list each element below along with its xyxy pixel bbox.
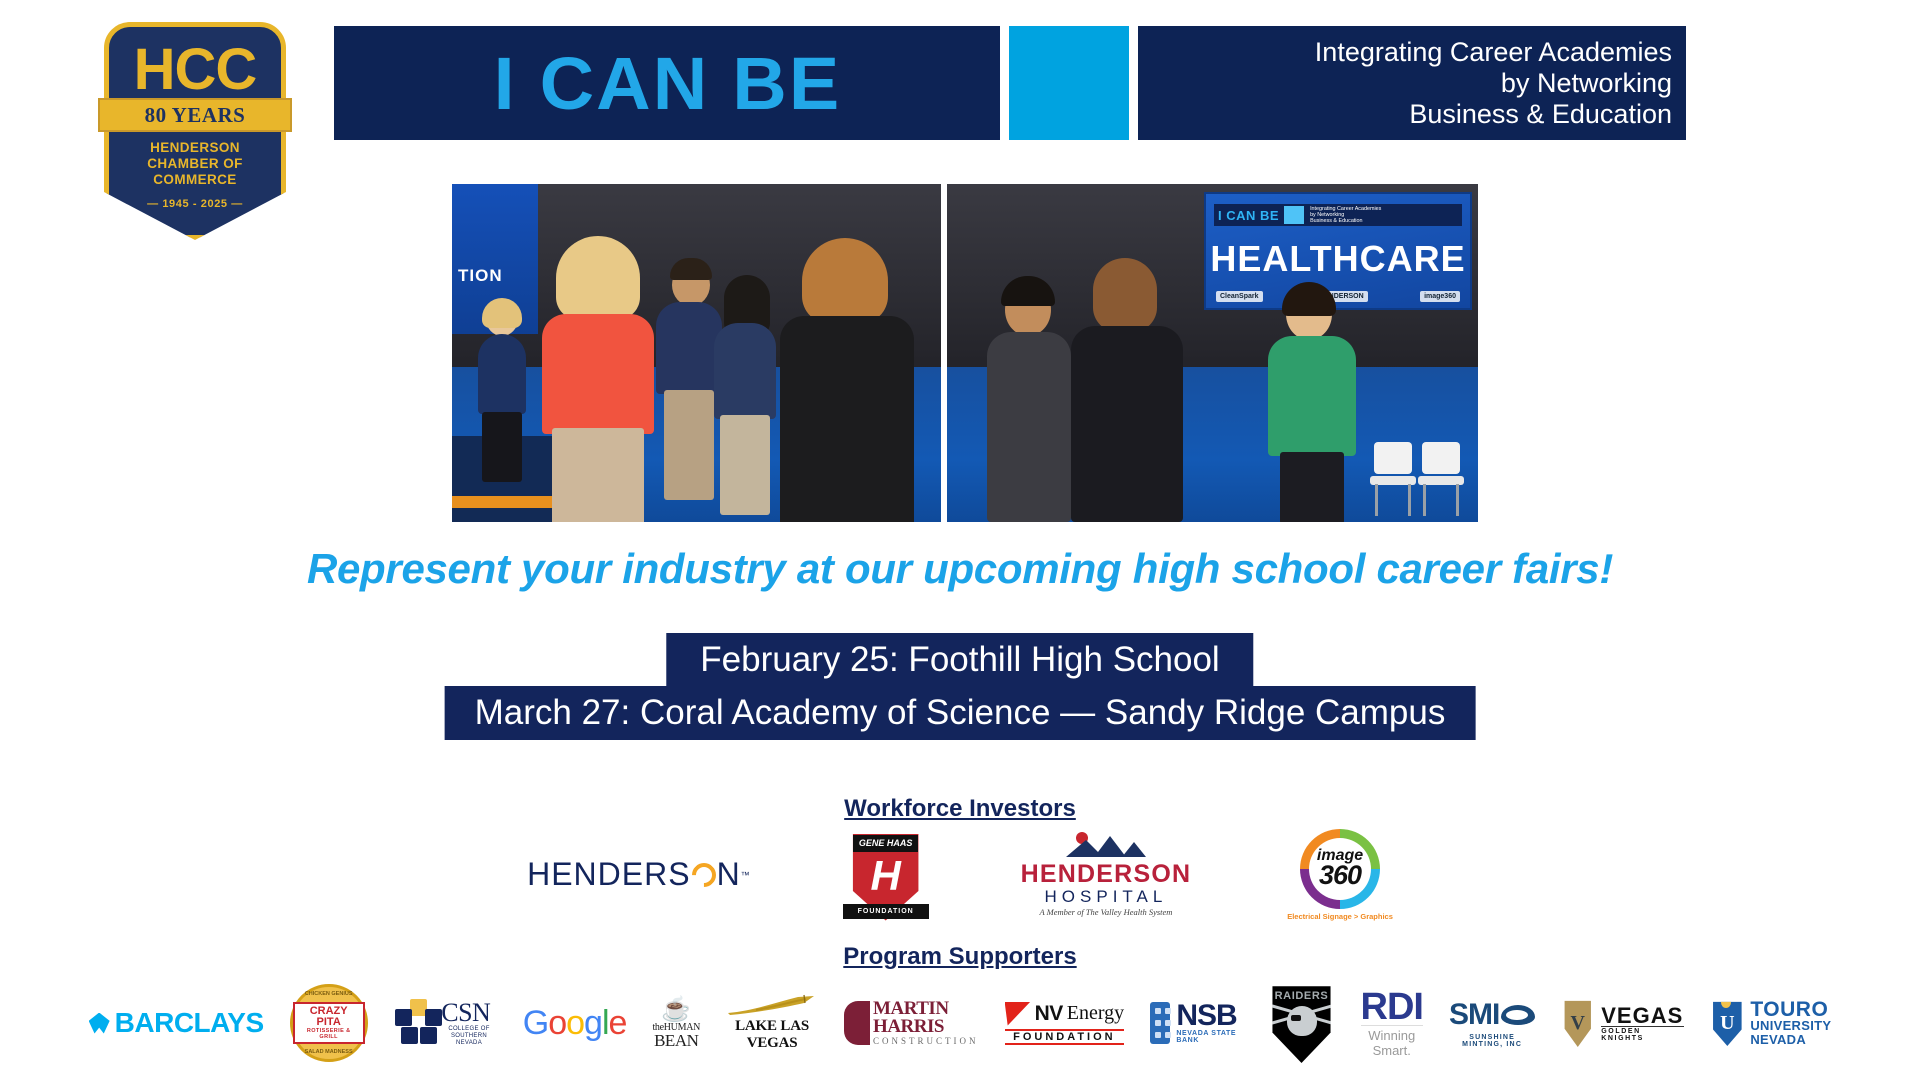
person-student-foreground — [770, 232, 920, 522]
hospital-type: HOSPITAL — [1021, 887, 1192, 907]
barclays-eagle-icon — [89, 1013, 110, 1034]
workforce-investors-row: HENDERSN™ GENE HAAS H FOUNDATION — [0, 822, 1920, 927]
nv-energy-word-1: NV — [1035, 1002, 1063, 1026]
chair-leg — [1375, 484, 1378, 516]
haas-top-bar: GENE HAAS — [853, 835, 919, 852]
chair-leg — [1423, 484, 1426, 516]
golden-knights-text: VEGAS GOLDEN KNIGHTS — [1601, 1005, 1684, 1042]
raiders-wordmark: RAIDERS — [1275, 990, 1329, 1002]
lake-las-vegas-wordmark: LAKE LAS VEGAS — [726, 1018, 818, 1052]
haas-foot-bar: FOUNDATION — [843, 904, 929, 919]
mountain-icon — [1064, 832, 1148, 858]
touro-shield-icon: U — [1710, 1000, 1744, 1046]
booth-banner-text: TION — [458, 266, 503, 286]
google-letter-e: e — [609, 1004, 627, 1042]
touro-lockup: U TOURO UNIVERSITY NEVADA — [1710, 1000, 1831, 1047]
sponsor-logo-raiders[interactable]: RAIDERS — [1269, 978, 1335, 1068]
healthcare-banner-sub-3: Business & Education — [1310, 218, 1362, 224]
touro-text: TOURO UNIVERSITY NEVADA — [1750, 1000, 1831, 1047]
header-title-block: I CAN BE — [334, 26, 1000, 140]
person-hair — [670, 258, 712, 280]
golden-knights-shield-icon: V — [1561, 999, 1594, 1047]
golden-knights-lockup: V VEGAS GOLDEN KNIGHTS — [1561, 999, 1684, 1047]
raiders-eye-patch-icon — [1291, 1015, 1301, 1021]
person-torso — [478, 334, 526, 414]
header-accent-square — [1009, 26, 1129, 140]
sponsor-logo-henderson-hospital[interactable]: HENDERSON HOSPITAL A Member of The Valle… — [1021, 832, 1192, 917]
header-subtitle-line-2: by Networking — [1501, 68, 1672, 99]
henderson-wordmark: HENDERSN™ — [527, 856, 751, 893]
nsb-door-icon — [1150, 1002, 1170, 1044]
person-hair — [1001, 276, 1055, 306]
csn-lockup: CSN COLLEGE OF SOUTHERN NEVADA — [394, 999, 497, 1047]
person-torso — [780, 316, 914, 522]
google-letter-g1: G — [523, 1004, 548, 1042]
sponsor-logo-martin-harris[interactable]: MARTIN HARRIS CONSTRUCTION — [844, 978, 979, 1068]
tagline: Represent your industry at our upcoming … — [0, 545, 1920, 593]
sponsor-logo-image360[interactable]: image 360 Electrical Signage > Graphics — [1287, 829, 1393, 921]
image360-ring-icon: image 360 — [1300, 829, 1380, 909]
person-torso — [1268, 336, 1356, 456]
sponsor-logo-rdi[interactable]: RDI Winning Smart. — [1361, 978, 1423, 1068]
logo-org-name: HENDERSON CHAMBER OF COMMERCE — [104, 140, 286, 188]
haas-shield-icon: GENE HAAS H FOUNDATION — [847, 829, 925, 921]
person-legs — [1280, 452, 1344, 522]
henderson-text-part-1: HENDERS — [527, 856, 690, 893]
event-date-banner-1: February 25: Foothill High School — [666, 633, 1253, 687]
event-date-banner-2: March 27: Coral Academy of Science — San… — [445, 686, 1476, 740]
hospital-name: HENDERSON — [1021, 862, 1192, 887]
golden-knights-line-2: GOLDEN KNIGHTS — [1601, 1026, 1684, 1042]
csn-sub-2: SOUTHERN NEVADA — [441, 1033, 497, 1047]
page-title: I CAN BE — [493, 41, 841, 126]
logo-org-line-3: COMMERCE — [104, 172, 286, 188]
flyer-page: HCC 80 YEARS HENDERSON CHAMBER OF COMMER… — [0, 0, 1920, 1080]
logo-ribbon: 80 YEARS — [98, 98, 292, 132]
photo-strip: TION — [452, 184, 1478, 522]
csn-petal — [420, 1027, 437, 1044]
crazy-pita-center: CRAZY PITA ROTISSERIE & GRILL — [293, 1002, 365, 1044]
sponsor-logo-henderson[interactable]: HENDERSN™ — [527, 856, 751, 893]
healthcare-banner-subtitle: Integrating Career Academies by Networki… — [1310, 206, 1381, 224]
nv-energy-foundation-label: FOUNDATION — [1005, 1029, 1125, 1045]
nv-energy-triangle-icon — [1005, 1002, 1031, 1026]
raiders-shield-icon: RAIDERS — [1269, 983, 1335, 1063]
smi-lockup: SMI SUNSHINE MINTING, INC — [1449, 998, 1535, 1048]
google-wordmark: Google — [523, 1004, 627, 1043]
csn-text: CSN COLLEGE OF SOUTHERN NEVADA — [441, 1000, 497, 1047]
sponsor-logo-google[interactable]: Google — [523, 978, 627, 1068]
healthcare-banner-brand: I CAN BE Integrating Career Academies by… — [1214, 204, 1462, 226]
golden-knights-line-1: VEGAS — [1601, 1005, 1684, 1026]
raiders-pirate-face-icon — [1287, 1006, 1317, 1036]
sponsor-logo-nv-energy-foundation[interactable]: NV Energy FOUNDATION — [1005, 978, 1125, 1068]
image360-word-2: 360 — [1317, 863, 1363, 888]
logo-ribbon-label: 80 YEARS — [145, 103, 246, 128]
header-subtitle-block: Integrating Career Academies by Networki… — [1138, 26, 1686, 140]
haas-name: GENE HAAS — [859, 838, 913, 848]
chair-icon — [1418, 442, 1464, 516]
csn-pinwheel-icon — [394, 999, 436, 1047]
healthcare-banner-accent-square — [1284, 206, 1304, 224]
person-torso — [1071, 326, 1183, 522]
person-legs — [552, 428, 644, 522]
nv-energy-word-2: Energy — [1067, 1002, 1124, 1025]
sponsor-logo-sunshine-minting[interactable]: SMI SUNSHINE MINTING, INC — [1449, 978, 1535, 1068]
header-subtitle-line-1: Integrating Career Academies — [1315, 37, 1672, 68]
human-bean-lockup: ☕ theHUMAN BEAN — [652, 998, 700, 1049]
martin-harris-line-3: CONSTRUCTION — [873, 1036, 979, 1046]
csn-sub-1: COLLEGE OF — [441, 1026, 497, 1033]
smi-sun-icon — [1501, 1005, 1535, 1025]
google-letter-g2: g — [584, 1004, 602, 1042]
person-legs — [720, 415, 770, 515]
sponsor-logo-human-bean[interactable]: ☕ theHUMAN BEAN — [652, 978, 700, 1068]
crazy-pita-badge-icon: CHICKEN GENIUS CRAZY PITA ROTISSERIE & G… — [290, 984, 368, 1062]
image360-lockup: image 360 Electrical Signage > Graphics — [1287, 829, 1393, 921]
chair-back — [1422, 442, 1460, 474]
banner-sponsor-3: image360 — [1420, 291, 1460, 302]
sponsor-logo-barclays[interactable]: BARCLAYS — [89, 978, 264, 1068]
person-hair — [1282, 282, 1336, 316]
google-letter-o1: o — [548, 1004, 566, 1042]
lake-swoosh-icon — [726, 994, 818, 1016]
nv-energy-top-row: NV Energy — [1005, 1002, 1125, 1026]
barclays-wordmark: BARCLAYS — [115, 1007, 264, 1039]
nsb-wordmark: NSB — [1176, 1002, 1242, 1030]
hcc-logo: HCC 80 YEARS HENDERSON CHAMBER OF COMMER… — [104, 22, 286, 240]
header-banner: I CAN BE Integrating Career Academies by… — [334, 26, 1686, 140]
smi-top-row: SMI — [1449, 998, 1535, 1032]
coffee-cup-icon: ☕ — [652, 998, 700, 1022]
lake-las-vegas-lockup: LAKE LAS VEGAS — [726, 994, 818, 1052]
person-presenter — [532, 222, 662, 522]
haas-foundation-label: FOUNDATION — [858, 908, 914, 915]
program-supporters-row: BARCLAYS CHICKEN GENIUS CRAZY PITA ROTIS… — [0, 975, 1920, 1071]
golden-knights-monogram: V — [1571, 1012, 1585, 1035]
crazy-pita-name: CRAZY PITA — [299, 1006, 359, 1028]
person-torso — [714, 323, 776, 419]
sponsor-logo-golden-knights[interactable]: V VEGAS GOLDEN KNIGHTS — [1561, 978, 1684, 1068]
person-torso — [542, 314, 654, 434]
barclays-lockup: BARCLAYS — [89, 1007, 264, 1039]
chair-back — [1374, 442, 1412, 474]
henderson-circle-icon — [687, 858, 721, 892]
csn-petal — [395, 1009, 412, 1026]
person-legs — [664, 390, 714, 500]
section-heading-workforce-investors: Workforce Investors — [0, 795, 1920, 823]
person-exhibitor — [1254, 282, 1374, 522]
person-hair — [802, 238, 888, 324]
healthcare-banner-brand-text: I CAN BE — [1214, 208, 1279, 223]
touro-line-2: UNIVERSITY — [1750, 1019, 1831, 1033]
martin-harris-text: MARTIN HARRIS CONSTRUCTION — [873, 1000, 979, 1046]
sponsor-logo-lake-las-vegas[interactable]: LAKE LAS VEGAS — [726, 978, 818, 1068]
martin-harris-lockup: MARTIN HARRIS CONSTRUCTION — [844, 1000, 979, 1046]
person-student — [1063, 242, 1191, 522]
person-torso — [987, 332, 1071, 522]
photo-career-fair-right: I CAN BE Integrating Career Academies by… — [947, 184, 1478, 522]
nsb-subtitle: NEVADA STATE BANK — [1176, 1030, 1242, 1044]
logo-years: — 1945 - 2025 — — [104, 198, 286, 210]
csn-petal — [425, 1009, 442, 1026]
human-bean-line-2: BEAN — [652, 1033, 700, 1049]
crazy-pita-bottom-text: SALAD MADNESS — [305, 1049, 353, 1055]
person-hair — [482, 298, 522, 328]
hospital-affiliation: A Member of The Valley Health System — [1021, 907, 1192, 917]
csn-wordmark: CSN — [441, 1000, 497, 1026]
logo-acronym: HCC — [104, 36, 286, 103]
logo-org-line-2: CHAMBER OF — [104, 156, 286, 172]
nsb-text: NSB NEVADA STATE BANK — [1176, 1002, 1242, 1044]
martin-harris-mark-icon — [844, 1001, 870, 1045]
csn-petal — [401, 1027, 418, 1044]
sponsor-logo-gene-haas-foundation[interactable]: GENE HAAS H FOUNDATION — [847, 829, 925, 921]
person-legs — [482, 412, 522, 482]
sponsor-logo-crazy-pita[interactable]: CHICKEN GENIUS CRAZY PITA ROTISSERIE & G… — [290, 978, 368, 1068]
healthcare-banner-word: HEALTHCARE — [1206, 238, 1470, 280]
chair-leg — [1456, 484, 1459, 516]
henderson-trademark: ™ — [741, 870, 751, 880]
chair-leg — [1408, 484, 1411, 516]
henderson-hospital-lockup: HENDERSON HOSPITAL A Member of The Valle… — [1021, 832, 1192, 917]
rdi-wordmark: RDI — [1361, 989, 1423, 1025]
section-heading-program-supporters: Program Supporters — [0, 943, 1920, 971]
logo-org-line-1: HENDERSON — [104, 140, 286, 156]
person-hair — [556, 236, 640, 320]
martin-harris-line-2: HARRIS — [873, 1018, 979, 1036]
image360-wordmark: image 360 — [1317, 849, 1363, 889]
header-subtitle-line-3: Business & Education — [1409, 99, 1672, 130]
touro-line-3: NEVADA — [1750, 1033, 1831, 1047]
image360-caption: Electrical Signage > Graphics — [1287, 912, 1393, 921]
smi-subtitle: SUNSHINE MINTING, INC — [1449, 1034, 1535, 1048]
sponsor-logo-nevada-state-bank[interactable]: NSB NEVADA STATE BANK — [1150, 978, 1242, 1068]
touro-flame-icon — [1721, 994, 1731, 1008]
crazy-pita-subtitle: ROTISSERIE & GRILL — [299, 1028, 359, 1040]
henderson-text-part-2: N — [717, 856, 741, 893]
rdi-lockup: RDI Winning Smart. — [1361, 989, 1423, 1058]
google-letter-o2: o — [566, 1004, 584, 1042]
person-hair — [1093, 258, 1157, 332]
rdi-tagline: Winning Smart. — [1361, 1025, 1423, 1058]
person-staff — [474, 302, 530, 482]
sponsor-logo-csn[interactable]: CSN COLLEGE OF SOUTHERN NEVADA — [394, 978, 497, 1068]
crazy-pita-top-text: CHICKEN GENIUS — [305, 991, 353, 997]
touro-line-1: TOURO — [1750, 1000, 1831, 1019]
person-student — [983, 272, 1075, 522]
smi-wordmark: SMI — [1449, 998, 1499, 1032]
chair-icon — [1370, 442, 1416, 516]
sponsor-logo-touro-university[interactable]: U TOURO UNIVERSITY NEVADA — [1710, 978, 1831, 1068]
nv-energy-lockup: NV Energy FOUNDATION — [1005, 1002, 1125, 1045]
photo-career-fair-left: TION — [452, 184, 941, 522]
haas-monogram: H — [847, 855, 925, 897]
touro-monogram: U — [1720, 1012, 1734, 1035]
nsb-lockup: NSB NEVADA STATE BANK — [1150, 1002, 1242, 1044]
